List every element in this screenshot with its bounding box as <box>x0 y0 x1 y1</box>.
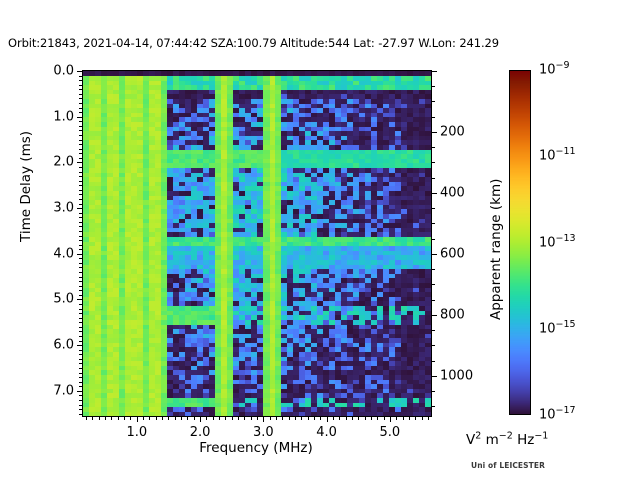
tick-mark <box>79 377 82 378</box>
y2-axis-title: Apparent range (km) <box>488 179 504 320</box>
tick-mark <box>79 176 82 177</box>
tick-mark <box>79 286 82 287</box>
tick-mark <box>79 94 82 95</box>
tick-mark <box>200 417 201 422</box>
tick-mark <box>384 417 385 420</box>
page-title: Orbit:21843, 2021-04-14, 07:44:42 SZA:10… <box>8 36 499 50</box>
tick-label: 2.0 <box>53 155 74 170</box>
x-axis-title: Frequency (MHz) <box>199 440 312 456</box>
tick-mark <box>432 193 437 194</box>
tick-mark <box>314 417 315 420</box>
colorbar-tick-label: 10−17 <box>539 408 576 423</box>
tick-mark <box>409 417 410 420</box>
tick-mark <box>422 417 423 420</box>
tick-mark <box>143 417 144 420</box>
tick-mark <box>79 295 82 296</box>
ionogram-heatmap <box>83 71 431 416</box>
tick-mark <box>432 132 437 133</box>
tick-mark <box>308 417 309 420</box>
tick-mark <box>79 172 82 173</box>
tick-mark <box>79 322 82 323</box>
tick-mark <box>79 341 82 342</box>
tick-mark <box>77 345 82 346</box>
tick-mark <box>238 417 239 420</box>
tick-mark <box>79 167 82 168</box>
tick-mark <box>432 239 435 240</box>
tick-mark <box>432 330 435 331</box>
tick-mark <box>168 417 169 420</box>
colorbar-units-label: V2 m−2 Hz−1 <box>466 432 548 448</box>
tick-mark <box>79 103 82 104</box>
tick-mark <box>79 359 82 360</box>
tick-mark <box>213 417 214 420</box>
tick-mark <box>79 231 82 232</box>
tick-mark <box>79 309 82 310</box>
tick-mark <box>77 162 82 163</box>
tick-mark <box>244 417 245 420</box>
tick-mark <box>79 318 82 319</box>
tick-mark <box>415 417 416 420</box>
tick-mark <box>79 245 82 246</box>
tick-mark <box>130 417 131 420</box>
tick-mark <box>432 117 435 118</box>
units-m: m−2 <box>486 432 513 448</box>
tick-mark <box>149 417 150 420</box>
tick-mark <box>79 213 82 214</box>
y-axis-title: Time Delay (ms) <box>18 131 34 242</box>
tick-mark <box>263 417 264 422</box>
tick-mark <box>432 178 435 179</box>
tick-mark <box>111 417 112 420</box>
tick-mark <box>162 417 163 420</box>
tick-mark <box>79 336 82 337</box>
tick-mark <box>79 236 82 237</box>
tick-label: 600 <box>440 246 465 261</box>
tick-mark <box>79 135 82 136</box>
tick-label: 7.0 <box>53 383 74 398</box>
tick-mark <box>92 417 93 420</box>
tick-mark <box>79 409 82 410</box>
tick-mark <box>79 190 82 191</box>
tick-mark <box>79 89 82 90</box>
tick-mark <box>358 417 359 420</box>
tick-mark <box>79 158 82 159</box>
tick-mark <box>346 417 347 420</box>
tick-mark <box>432 284 435 285</box>
tick-mark <box>403 417 404 420</box>
tick-mark <box>79 108 82 109</box>
tick-mark <box>295 417 296 420</box>
tick-mark <box>79 350 82 351</box>
tick-mark <box>432 162 435 163</box>
tick-mark <box>137 417 138 422</box>
tick-mark <box>79 222 82 223</box>
tick-mark <box>99 417 100 420</box>
tick-mark <box>432 86 435 87</box>
tick-mark <box>79 181 82 182</box>
tick-mark <box>251 417 252 420</box>
tick-mark <box>428 417 429 420</box>
tick-mark <box>79 85 82 86</box>
tick-mark <box>79 112 82 113</box>
colorbar-tick-label: 10−15 <box>539 321 576 336</box>
tick-mark <box>432 147 435 148</box>
tick-mark <box>79 327 82 328</box>
tick-label: 3.0 <box>253 425 274 440</box>
tick-mark <box>79 194 82 195</box>
tick-mark <box>339 417 340 420</box>
colorbar: 10−910−1110−1310−1510−17 <box>509 70 531 415</box>
tick-mark <box>396 417 397 420</box>
tick-mark <box>371 417 372 420</box>
ionogram-axes: 0.01.02.03.04.05.06.07.0 200400600800100… <box>82 70 432 417</box>
tick-mark <box>79 368 82 369</box>
tick-mark <box>270 417 271 420</box>
tick-mark <box>79 386 82 387</box>
tick-mark <box>352 417 353 420</box>
tick-mark <box>79 267 82 268</box>
tick-mark <box>79 217 82 218</box>
tick-label: 800 <box>440 307 465 322</box>
tick-mark <box>79 277 82 278</box>
units-hz: Hz−1 <box>517 432 548 448</box>
tick-label: 4.0 <box>53 246 74 261</box>
tick-mark <box>77 208 82 209</box>
tick-mark <box>77 299 82 300</box>
tick-mark <box>194 417 195 420</box>
units-v: V2 <box>466 432 481 448</box>
tick-mark <box>432 315 437 316</box>
tick-mark <box>86 417 87 420</box>
tick-mark <box>232 417 233 420</box>
tick-mark <box>432 376 437 377</box>
tick-mark <box>432 361 435 362</box>
tick-mark <box>79 240 82 241</box>
tick-mark <box>432 391 435 392</box>
tick-mark <box>105 417 106 420</box>
tick-label: 0.0 <box>53 64 74 79</box>
colorbar-tick-label: 10−11 <box>539 149 576 164</box>
colorbar-gradient <box>510 71 530 414</box>
tick-label: 3.0 <box>53 201 74 216</box>
tick-label: 5.0 <box>53 292 74 307</box>
tick-mark <box>79 313 82 314</box>
tick-mark <box>432 406 435 407</box>
tick-mark <box>77 254 82 255</box>
tick-mark <box>79 272 82 273</box>
tick-mark <box>333 417 334 420</box>
tick-mark <box>79 304 82 305</box>
tick-mark <box>79 199 82 200</box>
tick-label: 6.0 <box>53 338 74 353</box>
tick-mark <box>320 417 321 420</box>
tick-mark <box>79 140 82 141</box>
tick-label: 1000 <box>440 368 473 383</box>
tick-mark <box>79 130 82 131</box>
tick-mark <box>432 208 435 209</box>
tick-mark <box>79 258 82 259</box>
tick-mark <box>79 249 82 250</box>
tick-mark <box>432 254 437 255</box>
tick-mark <box>79 80 82 81</box>
tick-label: 1.0 <box>53 109 74 124</box>
tick-mark <box>377 417 378 420</box>
tick-mark <box>124 417 125 420</box>
tick-mark <box>156 417 157 420</box>
tick-mark <box>79 153 82 154</box>
tick-mark <box>77 117 82 118</box>
tick-mark <box>79 395 82 396</box>
colorbar-tick-label: 10−13 <box>539 235 576 250</box>
tick-mark <box>118 417 119 420</box>
tick-mark <box>79 263 82 264</box>
tick-mark <box>79 185 82 186</box>
tick-mark <box>365 417 366 420</box>
tick-mark <box>282 417 283 420</box>
colorbar-tick-label: 10−9 <box>539 63 570 78</box>
tick-mark <box>79 149 82 150</box>
tick-mark <box>79 121 82 122</box>
tick-mark <box>79 414 82 415</box>
ionogram-figure: Orbit:21843, 2021-04-14, 07:44:42 SZA:10… <box>0 0 640 480</box>
tick-mark <box>79 363 82 364</box>
tick-mark <box>432 300 435 301</box>
tick-mark <box>79 400 82 401</box>
tick-mark <box>301 417 302 420</box>
tick-mark <box>79 382 82 383</box>
tick-mark <box>79 226 82 227</box>
tick-mark <box>432 101 435 102</box>
tick-mark <box>79 331 82 332</box>
tick-mark <box>79 405 82 406</box>
tick-mark <box>219 417 220 420</box>
tick-mark <box>390 417 391 422</box>
tick-mark <box>79 76 82 77</box>
tick-mark <box>79 204 82 205</box>
tick-mark <box>79 290 82 291</box>
tick-mark <box>79 98 82 99</box>
tick-label: 1.0 <box>126 425 147 440</box>
tick-mark <box>77 391 82 392</box>
tick-mark <box>432 345 435 346</box>
tick-mark <box>432 71 437 72</box>
tick-mark <box>187 417 188 420</box>
tick-mark <box>79 281 82 282</box>
tick-label: 2.0 <box>190 425 211 440</box>
tick-mark <box>79 126 82 127</box>
tick-label: 4.0 <box>316 425 337 440</box>
tick-mark <box>77 71 82 72</box>
tick-mark <box>225 417 226 420</box>
tick-mark <box>432 269 435 270</box>
tick-label: 5.0 <box>380 425 401 440</box>
tick-mark <box>181 417 182 420</box>
tick-label: 400 <box>440 185 465 200</box>
tick-mark <box>432 223 435 224</box>
tick-mark <box>276 417 277 420</box>
tick-mark <box>175 417 176 420</box>
tick-mark <box>206 417 207 420</box>
colorbar-gradient-box <box>509 70 531 415</box>
tick-mark <box>79 373 82 374</box>
tick-label: 200 <box>440 124 465 139</box>
tick-mark <box>327 417 328 422</box>
tick-mark <box>289 417 290 420</box>
tick-mark <box>79 144 82 145</box>
credit-label: Uni of LEICESTER <box>471 461 545 470</box>
tick-mark <box>79 354 82 355</box>
tick-mark <box>257 417 258 420</box>
